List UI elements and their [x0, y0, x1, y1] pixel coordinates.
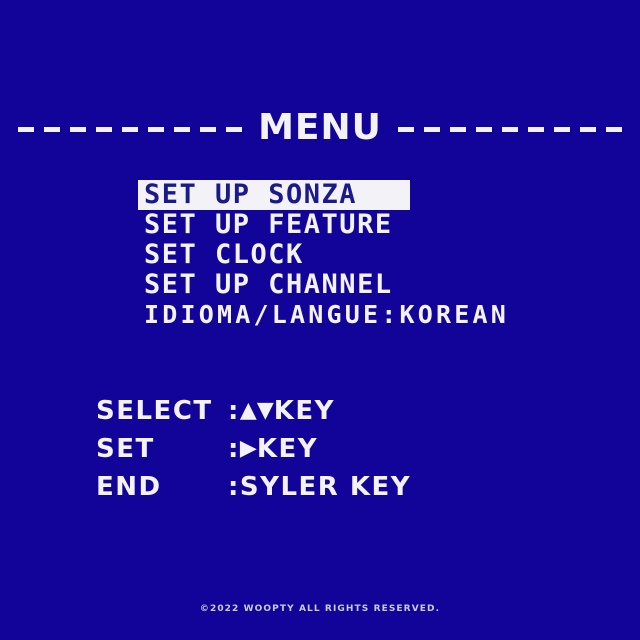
- title-dash: [580, 127, 596, 132]
- title-dash: [502, 127, 518, 132]
- legend-row-select: SELECT : ▲▼ KEY: [96, 392, 576, 430]
- legend-label-end: END: [96, 468, 228, 506]
- legend-separator-set: :: [228, 430, 240, 468]
- title-dash: [450, 127, 466, 132]
- legend-label-set: SET: [96, 430, 228, 468]
- menu-item-language[interactable]: IDIOMA/LANGUE:KOREAN: [138, 300, 515, 330]
- title-dash: [528, 127, 544, 132]
- title-dash: [554, 127, 570, 132]
- menu-item-set-clock[interactable]: SET CLOCK: [138, 240, 310, 270]
- title-dash: [424, 127, 440, 132]
- title-dash: [226, 127, 242, 132]
- title-dash: [200, 127, 216, 132]
- legend-label-select: SELECT: [96, 392, 228, 430]
- title-dash: [122, 127, 138, 132]
- legend-row-end: END : SYLER KEY: [96, 468, 576, 506]
- legend-row-set: SET : ▶ KEY: [96, 430, 576, 468]
- legend-separator-select: :: [228, 392, 240, 430]
- up-down-arrow-icon: ▲▼: [240, 392, 274, 430]
- legend-value-set: KEY: [257, 430, 318, 468]
- title-dashes-right: [398, 127, 622, 132]
- right-arrow-icon: ▶: [240, 430, 257, 468]
- footer-copyright: ©2022 WOOPTY ALL RIGHTS RESERVED.: [0, 604, 640, 614]
- title-dash: [476, 127, 492, 132]
- menu-title-row: MENU: [0, 108, 640, 148]
- title-dash: [44, 127, 60, 132]
- legend-value-select: KEY: [274, 392, 335, 430]
- legend-separator-end: :: [228, 468, 240, 506]
- page-title: MENU: [258, 110, 382, 146]
- key-legend: SELECT : ▲▼ KEY SET : ▶ KEY END : SYLER …: [96, 392, 576, 506]
- title-dash: [398, 127, 414, 132]
- legend-value-end: SYLER KEY: [240, 468, 411, 506]
- title-dash: [18, 127, 34, 132]
- menu-item-set-up-channel[interactable]: SET UP CHANNEL: [138, 270, 399, 300]
- title-dash: [174, 127, 190, 132]
- menu-item-set-up-feature[interactable]: SET UP FEATURE: [138, 210, 399, 240]
- menu-list: SET UP SONZA SET UP FEATURE SET CLOCK SE…: [138, 180, 578, 330]
- title-dash: [148, 127, 164, 132]
- title-dash: [606, 127, 622, 132]
- osd-screen: MENU SET UP SONZA SET UP FEATURE SET CLO…: [0, 0, 640, 640]
- title-dash: [70, 127, 86, 132]
- menu-item-set-up-sonza[interactable]: SET UP SONZA: [138, 180, 410, 210]
- title-dashes-left: [18, 127, 242, 132]
- title-dash: [96, 127, 112, 132]
